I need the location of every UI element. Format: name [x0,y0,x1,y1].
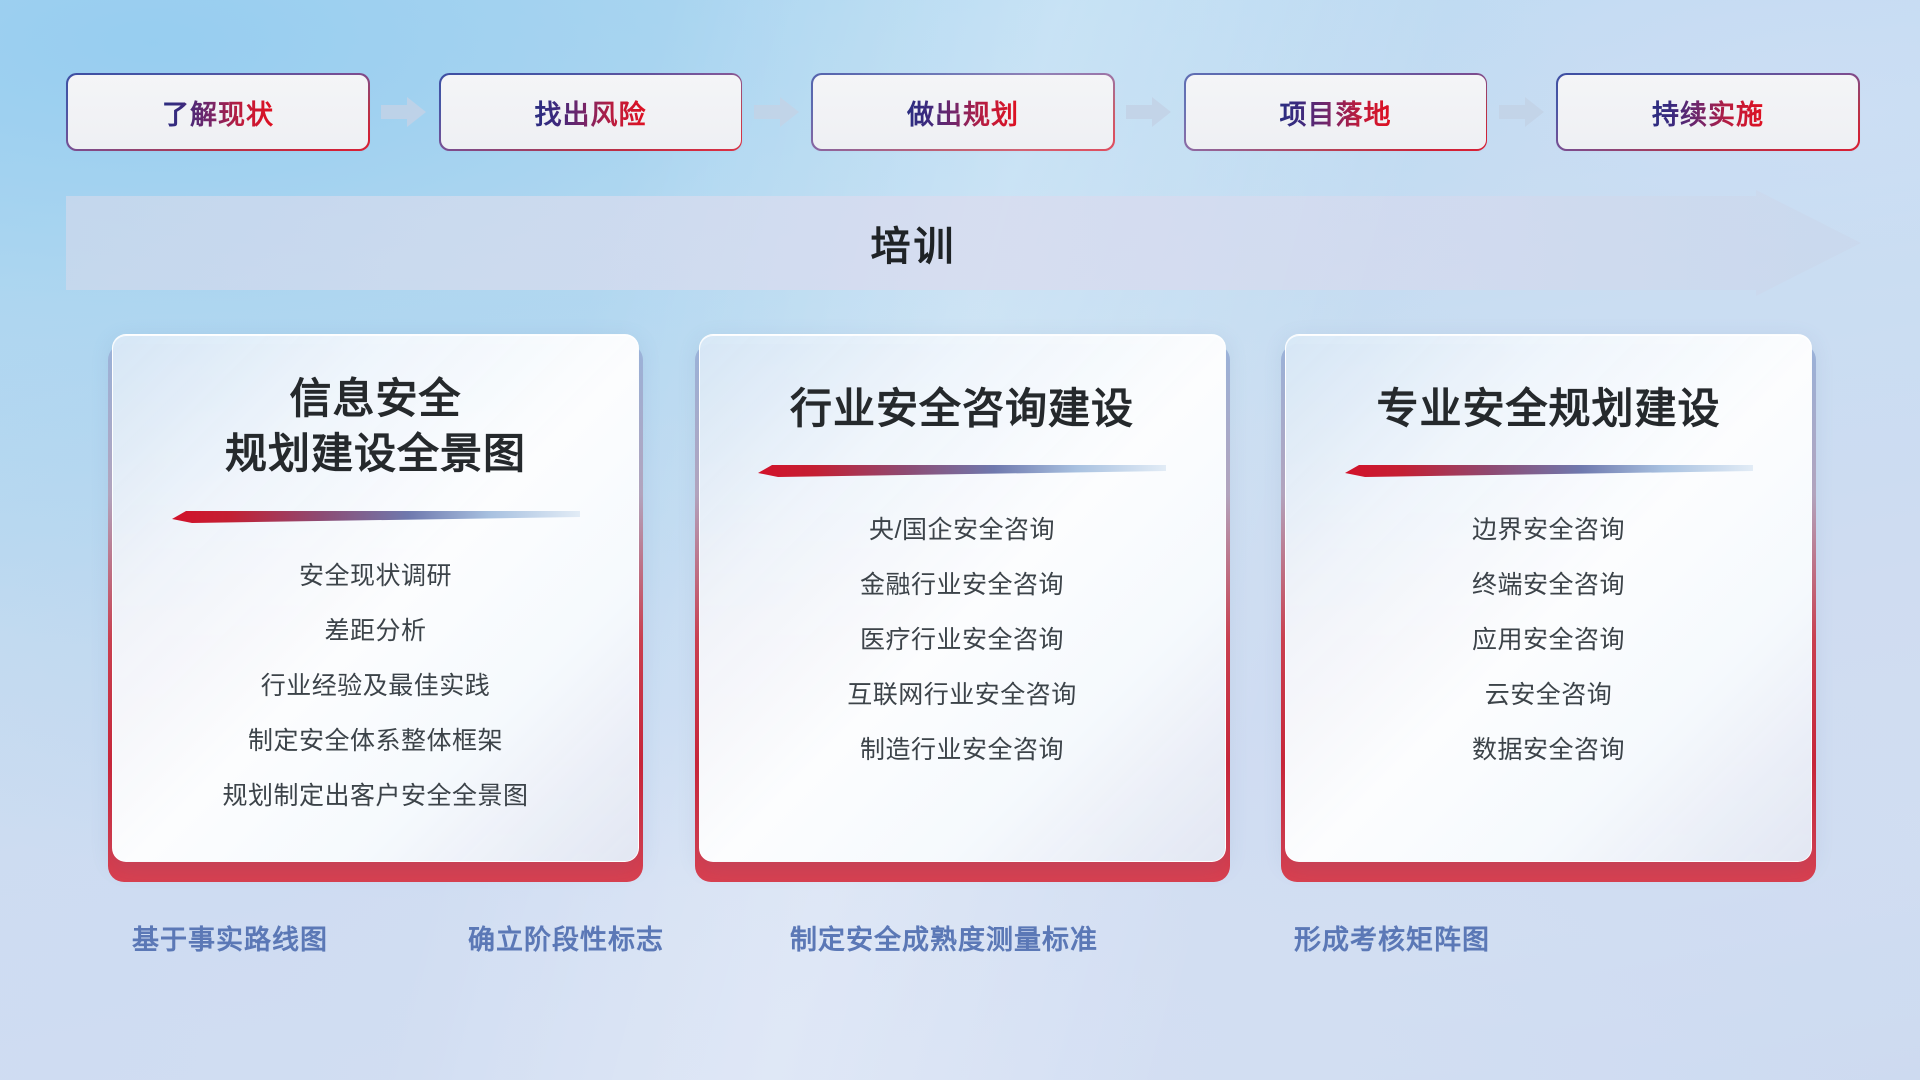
card-title-3: 专业安全规划建设 [1352,381,1744,436]
card-title-2: 行业安全咨询建设 [766,381,1158,436]
step-label-4: 项目落地 [1280,93,1392,132]
list-item: 行业经验及最佳实践 [137,664,614,709]
card-3[interactable]: 专业安全规划建设 [1285,334,1812,862]
list-item: 边界安全咨询 [1310,508,1787,553]
right-arrow-icon [1499,95,1545,129]
step-label-2: 找出风险 [535,93,647,132]
card-list-1: 安全现状调研 差距分析 行业经验及最佳实践 制定安全体系整体框架 规划制定出客户… [113,554,638,829]
gradient-divider-icon [758,462,1166,478]
card-title-1-line2: 规划建设全景图 [225,426,526,481]
list-item: 金融行业安全咨询 [724,563,1201,608]
bottom-label-1: 基于事实路线图 [132,918,328,957]
process-steps: 了解现状 找出风险 做出规划 项目落地 持续实施 [68,72,1858,152]
list-item: 央/国企安全咨询 [724,508,1201,553]
list-item: 数据安全咨询 [1310,728,1787,773]
training-banner: 培训 [66,190,1861,296]
cards-row: 信息安全 规划建设全景图 [112,334,1812,874]
step-box-5[interactable]: 持续实施 [1558,75,1858,149]
list-item: 规划制定出客户安全全景图 [137,774,614,819]
step-label-3: 做出规划 [907,93,1019,132]
step-box-4[interactable]: 项目落地 [1186,75,1486,149]
list-item: 终端安全咨询 [1310,563,1787,608]
list-item: 差距分析 [137,609,614,654]
card-2[interactable]: 行业安全咨询建设 [699,334,1226,862]
card-title-1-line1: 信息安全 [225,371,526,426]
card-title-1: 信息安全 规划建设全景图 [201,371,550,482]
card-wrapper-2: 行业安全咨询建设 [699,334,1226,874]
card-list-3: 边界安全咨询 终端安全咨询 应用安全咨询 云安全咨询 数据安全咨询 [1286,508,1811,783]
right-arrow-icon [754,95,800,129]
step-label-1: 了解现状 [162,93,274,132]
bottom-label-2: 确立阶段性标志 [468,918,664,957]
list-item: 制定安全体系整体框架 [137,719,614,764]
banner-label: 培训 [66,190,1761,296]
card-title-2-line1: 行业安全咨询建设 [790,381,1134,436]
list-item: 应用安全咨询 [1310,618,1787,663]
card-wrapper-3: 专业安全规划建设 [1285,334,1812,874]
bottom-label-4: 形成考核矩阵图 [1294,918,1490,957]
right-arrow-icon [1126,95,1172,129]
list-item: 制造行业安全咨询 [724,728,1201,773]
card-title-3-line1: 专业安全规划建设 [1376,381,1720,436]
list-item: 安全现状调研 [137,554,614,599]
card-wrapper-1: 信息安全 规划建设全景图 [112,334,639,874]
card-1[interactable]: 信息安全 规划建设全景图 [112,334,639,862]
step-box-1[interactable]: 了解现状 [68,75,368,149]
gradient-divider-icon [1345,462,1753,478]
bottom-label-3: 制定安全成熟度测量标准 [790,918,1098,957]
list-item: 医疗行业安全咨询 [724,618,1201,663]
step-label-5: 持续实施 [1652,93,1764,132]
list-item: 互联网行业安全咨询 [724,673,1201,718]
gradient-divider-icon [172,508,580,524]
bottom-labels-row: 基于事实路线图 确立阶段性标志 制定安全成熟度测量标准 形成考核矩阵图 [0,918,1920,964]
card-list-2: 央/国企安全咨询 金融行业安全咨询 医疗行业安全咨询 互联网行业安全咨询 制造行… [700,508,1225,783]
step-box-3[interactable]: 做出规划 [813,75,1113,149]
step-box-2[interactable]: 找出风险 [441,75,741,149]
list-item: 云安全咨询 [1310,673,1787,718]
right-arrow-icon [381,95,427,129]
